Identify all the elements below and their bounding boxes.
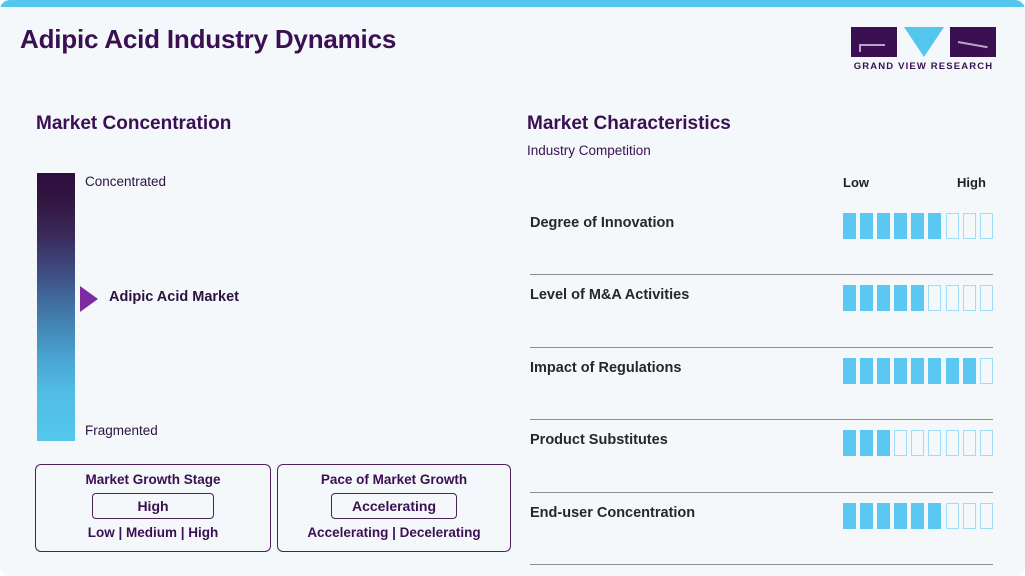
- rating-segment-empty: [963, 430, 976, 456]
- logo-left-rect-icon: [851, 27, 897, 57]
- rating-segment-filled: [843, 285, 856, 311]
- characteristic-label: Level of M&A Activities: [530, 287, 689, 303]
- logo-right-rect-icon: [950, 27, 996, 57]
- rating-segment-empty: [980, 430, 993, 456]
- rating-segment-filled: [928, 213, 941, 239]
- rating-segment-empty: [980, 213, 993, 239]
- rating-segments: [843, 503, 994, 529]
- market-growth-stage-value: High: [92, 493, 214, 519]
- brand-logo: GRAND VIEW RESEARCH: [851, 27, 996, 73]
- rating-segment-filled: [911, 285, 924, 311]
- rating-segment-filled: [894, 213, 907, 239]
- scale-low-label: Low: [843, 175, 869, 190]
- rating-segment-filled: [911, 358, 924, 384]
- rating-segment-filled: [860, 358, 873, 384]
- rating-segment-empty: [963, 285, 976, 311]
- rating-segment-empty: [980, 503, 993, 529]
- characteristic-label: Impact of Regulations: [530, 360, 681, 376]
- market-position-label: Adipic Acid Market: [109, 289, 239, 305]
- rating-segment-empty: [980, 285, 993, 311]
- characteristic-row: End-user Concentration: [530, 493, 993, 565]
- page-title: Adipic Acid Industry Dynamics: [20, 24, 396, 55]
- characteristic-label: Product Substitutes: [530, 432, 668, 448]
- rating-segment-empty: [928, 285, 941, 311]
- rating-segment-filled: [928, 358, 941, 384]
- rating-segment-filled: [843, 213, 856, 239]
- market-growth-stage-options: Low | Medium | High: [36, 525, 270, 540]
- rating-segment-empty: [946, 213, 959, 239]
- rating-segment-filled: [877, 358, 890, 384]
- accent-top-bar: [0, 0, 1025, 7]
- rating-segment-empty: [946, 285, 959, 311]
- rating-segment-filled: [894, 503, 907, 529]
- rating-segment-filled: [843, 503, 856, 529]
- pace-of-market-growth-options: Accelerating | Decelerating: [278, 525, 510, 540]
- rating-segment-filled: [911, 503, 924, 529]
- logo-left-tick-icon: [859, 44, 861, 52]
- rating-segment-filled: [860, 213, 873, 239]
- pace-of-market-growth-value: Accelerating: [331, 493, 457, 519]
- market-characteristics-heading: Market Characteristics: [527, 113, 731, 135]
- logo-left-line-icon: [859, 44, 885, 46]
- row-divider: [530, 564, 993, 565]
- rating-segment-empty: [963, 213, 976, 239]
- rating-segment-empty: [980, 358, 993, 384]
- logo-marks: [851, 27, 996, 57]
- logo-brand-text: GRAND VIEW RESEARCH: [851, 61, 996, 72]
- rating-segment-filled: [894, 358, 907, 384]
- rating-segment-empty: [946, 503, 959, 529]
- rating-segment-empty: [928, 430, 941, 456]
- logo-triangle-icon: [904, 27, 944, 57]
- rating-segment-filled: [963, 358, 976, 384]
- concentration-gradient-bar: [37, 173, 75, 441]
- scale-high-label: High: [957, 175, 986, 190]
- rating-segment-filled: [877, 213, 890, 239]
- rating-segment-filled: [860, 430, 873, 456]
- characteristics-rows: Degree of InnovationLevel of M&A Activit…: [530, 203, 993, 565]
- rating-segments: [843, 285, 994, 311]
- infographic-page: Adipic Acid Industry Dynamics GRAND VIEW…: [0, 0, 1025, 576]
- rating-segment-filled: [894, 285, 907, 311]
- rating-segment-filled: [843, 358, 856, 384]
- logo-right-line-icon: [958, 41, 988, 48]
- rating-segment-filled: [877, 285, 890, 311]
- concentration-top-label: Concentrated: [85, 174, 166, 189]
- pace-of-market-growth-box: Pace of Market Growth Accelerating Accel…: [277, 464, 511, 552]
- rating-segment-filled: [860, 503, 873, 529]
- characteristic-label: End-user Concentration: [530, 505, 695, 521]
- rating-segment-empty: [894, 430, 907, 456]
- rating-segment-filled: [860, 285, 873, 311]
- market-position-marker-icon: [80, 286, 98, 312]
- market-growth-stage-box: Market Growth Stage High Low | Medium | …: [35, 464, 271, 552]
- rating-segment-filled: [877, 430, 890, 456]
- rating-segment-filled: [843, 430, 856, 456]
- concentration-bottom-label: Fragmented: [85, 423, 158, 438]
- rating-segment-filled: [877, 503, 890, 529]
- characteristic-label: Degree of Innovation: [530, 215, 674, 231]
- characteristic-row: Impact of Regulations: [530, 348, 993, 420]
- characteristic-row: Level of M&A Activities: [530, 275, 993, 347]
- rating-segments: [843, 430, 994, 456]
- rating-segment-filled: [928, 503, 941, 529]
- rating-segments: [843, 213, 994, 239]
- market-concentration-heading: Market Concentration: [36, 113, 231, 135]
- rating-segment-empty: [911, 430, 924, 456]
- market-characteristics-subheading: Industry Competition: [527, 143, 651, 158]
- rating-segment-filled: [911, 213, 924, 239]
- rating-segment-filled: [946, 358, 959, 384]
- rating-segment-empty: [963, 503, 976, 529]
- market-growth-stage-title: Market Growth Stage: [36, 472, 270, 487]
- pace-of-market-growth-title: Pace of Market Growth: [278, 472, 510, 487]
- rating-segment-empty: [946, 430, 959, 456]
- characteristic-row: Product Substitutes: [530, 420, 993, 492]
- rating-segments: [843, 358, 994, 384]
- characteristic-row: Degree of Innovation: [530, 203, 993, 275]
